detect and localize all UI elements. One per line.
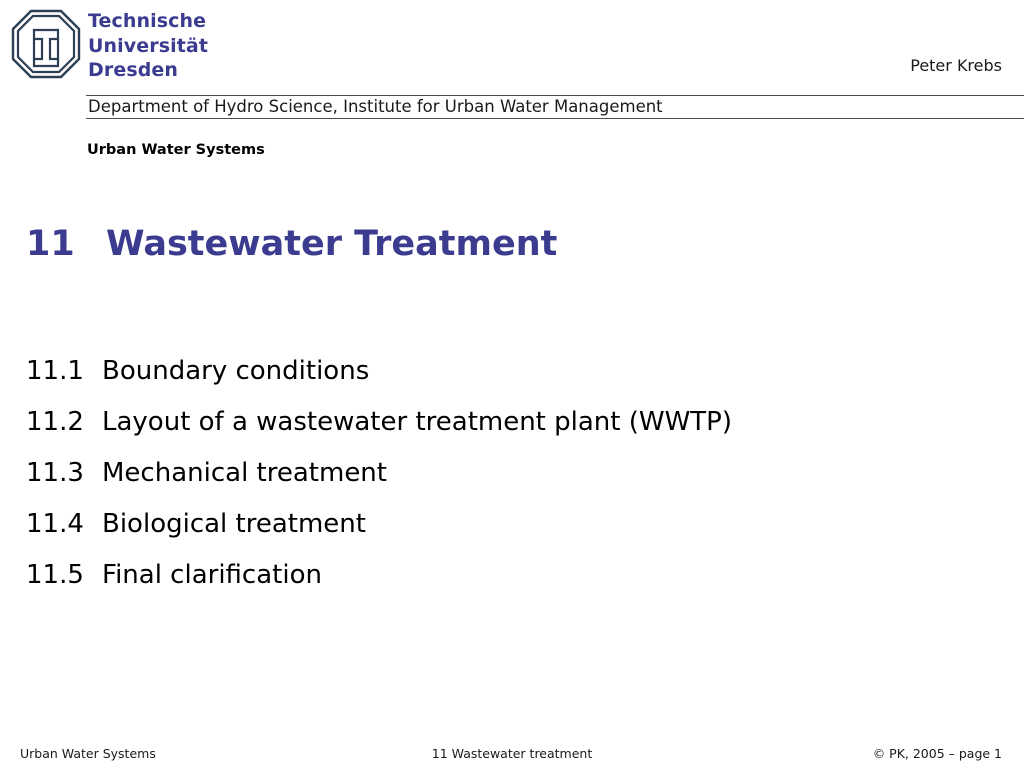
footer-copyright-page: © PK, 2005 – page 1 <box>873 746 1002 761</box>
university-name: Technische Universität Dresden <box>88 9 208 83</box>
agenda-item-number: 11.3 <box>26 458 102 488</box>
agenda-item-11-3: 11.3 Mechanical treatment <box>26 458 986 509</box>
slide: Technische Universität Dresden Peter Kre… <box>0 0 1024 768</box>
agenda-list: 11.1 Boundary conditions 11.2 Layout of … <box>26 356 986 611</box>
agenda-item-number: 11.5 <box>26 560 102 590</box>
course-title: Urban Water Systems <box>87 142 265 158</box>
page-title: 11Wastewater Treatment <box>26 222 557 266</box>
agenda-item-11-1: 11.1 Boundary conditions <box>26 356 986 407</box>
university-name-line-3: Dresden <box>88 58 208 83</box>
agenda-item-label: Boundary conditions <box>102 356 369 386</box>
agenda-item-11-4: 11.4 Biological treatment <box>26 509 986 560</box>
tu-dresden-octagon-icon <box>10 8 82 84</box>
university-name-line-2: Universität <box>88 34 208 59</box>
footer-chapter-name: 11 Wastewater treatment <box>0 746 1024 761</box>
page-title-text: Wastewater Treatment <box>106 224 557 264</box>
page-title-number: 11 <box>26 222 106 266</box>
university-name-line-1: Technische <box>88 9 208 34</box>
slide-footer: Urban Water Systems 11 Wastewater treatm… <box>0 746 1024 768</box>
agenda-item-number: 11.1 <box>26 356 102 386</box>
agenda-item-11-5: 11.5 Final clarification <box>26 560 986 611</box>
agenda-item-label: Biological treatment <box>102 509 366 539</box>
agenda-item-label: Mechanical treatment <box>102 458 387 488</box>
tu-dresden-logo <box>10 8 82 84</box>
agenda-item-number: 11.4 <box>26 509 102 539</box>
department-line: Department of Hydro Science, Institute f… <box>88 96 663 117</box>
author-name: Peter Krebs <box>910 56 1002 75</box>
agenda-item-number: 11.2 <box>26 407 102 437</box>
agenda-item-label: Final clarification <box>102 560 322 590</box>
agenda-item-11-2: 11.2 Layout of a wastewater treatment pl… <box>26 407 986 458</box>
header-divider-bottom <box>86 118 1024 119</box>
agenda-item-label: Layout of a wastewater treatment plant (… <box>102 407 732 437</box>
